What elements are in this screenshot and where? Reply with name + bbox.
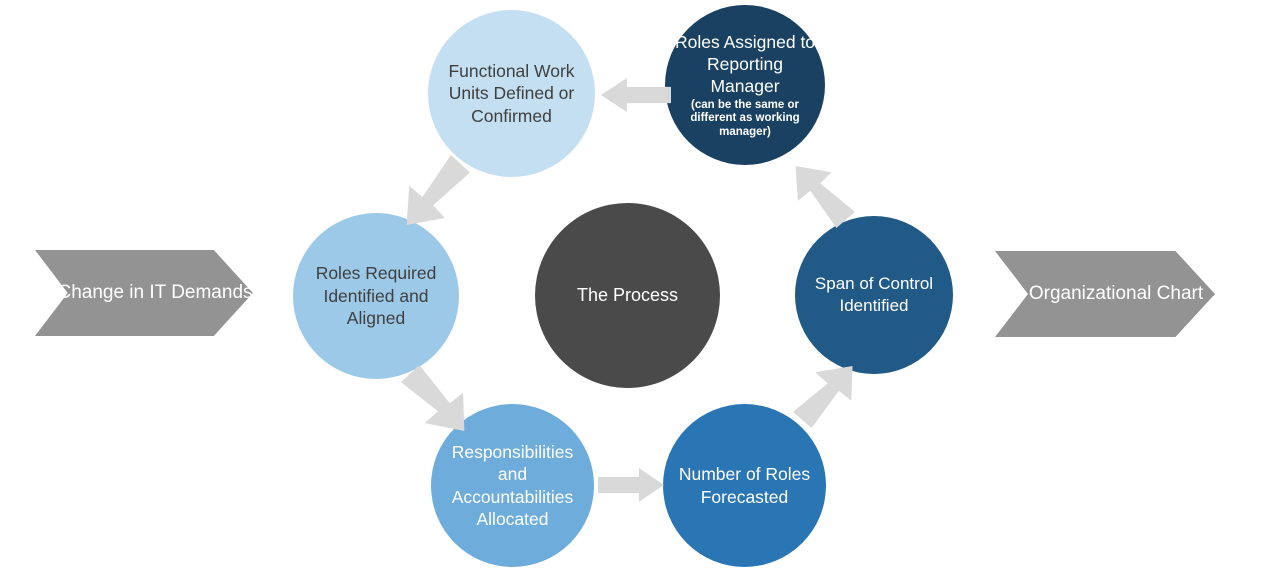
node-center-the-process[interactable]: The Process [535,203,720,388]
arrow-up-right-icon-number-of-roles-to-span-of-control [793,366,855,428]
output-banner-label: Organizational Chart [1029,282,1203,307]
center-node-label: The Process [535,284,720,307]
node-span-of-control-label: Span of Control Identified [795,273,953,317]
input-banner-label: Change in IT Demands [57,281,252,306]
process-diagram: Change in IT Demands Organizational Char… [0,0,1281,575]
node-roles-assigned-to-reporting-manager[interactable]: Roles Assigned to Reporting Manager (can… [665,5,825,165]
node-responsibilities-label: Responsibilities and Accountabilities Al… [431,441,594,531]
output-banner-organizational-chart: Organizational Chart [995,251,1215,337]
node-roles-required-label: Roles Required Identified and Aligned [293,262,459,329]
arrow-down-right-icon-roles-required-to-responsibilities [401,365,467,431]
input-banner-change-in-it-demands: Change in IT Demands [35,250,253,336]
arrow-right-icon-responsibilities-to-number-of-roles [598,468,664,502]
node-roles-assigned-label: Roles Assigned to Reporting Manager [665,31,825,98]
node-number-of-roles-forecasted[interactable]: Number of Roles Forecasted [663,404,826,567]
node-roles-required-identified-and-aligned[interactable]: Roles Required Identified and Aligned [293,213,459,379]
arrow-up-left-icon-span-of-control-to-roles-assigned [793,166,855,228]
node-functional-work-units-label: Functional Work Units Defined or Confirm… [428,60,595,127]
arrow-down-left-icon-functional-work-units-to-roles-required [404,155,470,225]
node-span-of-control-identified[interactable]: Span of Control Identified [795,216,953,374]
node-number-of-roles-label: Number of Roles Forecasted [663,463,826,508]
node-functional-work-units[interactable]: Functional Work Units Defined or Confirm… [428,10,595,177]
node-roles-assigned-sublabel: (can be the same or different as working… [665,99,825,140]
arrow-left-icon-roles-assigned-to-functional-work-units [601,78,671,112]
